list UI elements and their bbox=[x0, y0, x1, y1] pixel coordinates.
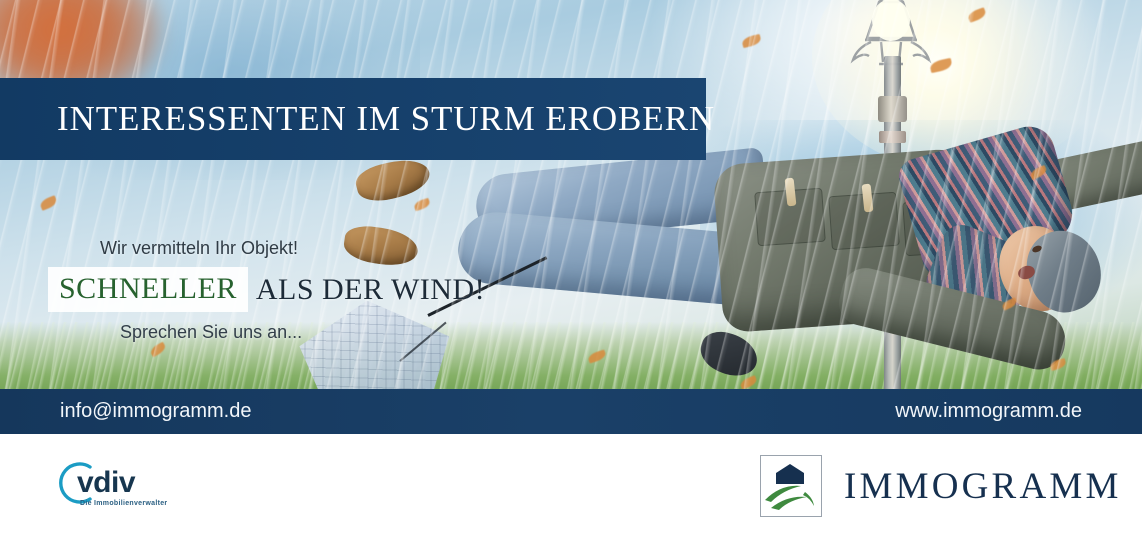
headline-bar: INTERESSENTEN IM STURM EROBERN bbox=[0, 78, 706, 160]
rain-streaks-secondary bbox=[0, 0, 1142, 434]
vdiv-logo: vdiv Die Immobilienverwalter bbox=[50, 458, 200, 520]
immogramm-mark-icon bbox=[760, 455, 822, 517]
copy-line-3: Sprechen Sie uns an... bbox=[120, 322, 470, 343]
vdiv-wordmark: vdiv bbox=[77, 466, 135, 500]
page-title: INTERESSENTEN IM STURM EROBERN bbox=[57, 99, 715, 139]
marketing-copy-block: Wir vermitteln Ihr Objekt! SCHNELLER ALS… bbox=[0, 238, 470, 343]
copy-line-2-rest: ALS DER WIND! bbox=[256, 273, 485, 307]
copy-line-2: SCHNELLER ALS DER WIND! bbox=[0, 267, 470, 312]
email-link[interactable]: info@immogramm.de bbox=[60, 400, 251, 423]
advertisement-banner: INTERESSENTEN IM STURM EROBERN Wir vermi… bbox=[0, 0, 1142, 542]
vdiv-tagline: Die Immobilienverwalter bbox=[80, 500, 167, 507]
copy-line-1: Wir vermitteln Ihr Objekt! bbox=[100, 238, 470, 259]
immogramm-logo: IMMOGRAMM bbox=[760, 452, 1122, 520]
storm-photo-background bbox=[0, 0, 1142, 434]
copy-highlight-schneller: SCHNELLER bbox=[48, 267, 248, 312]
website-link[interactable]: www.immogramm.de bbox=[895, 400, 1082, 423]
immogramm-wordmark: IMMOGRAMM bbox=[844, 465, 1122, 508]
contact-footer-bar: info@immogramm.de www.immogramm.de bbox=[0, 389, 1142, 434]
